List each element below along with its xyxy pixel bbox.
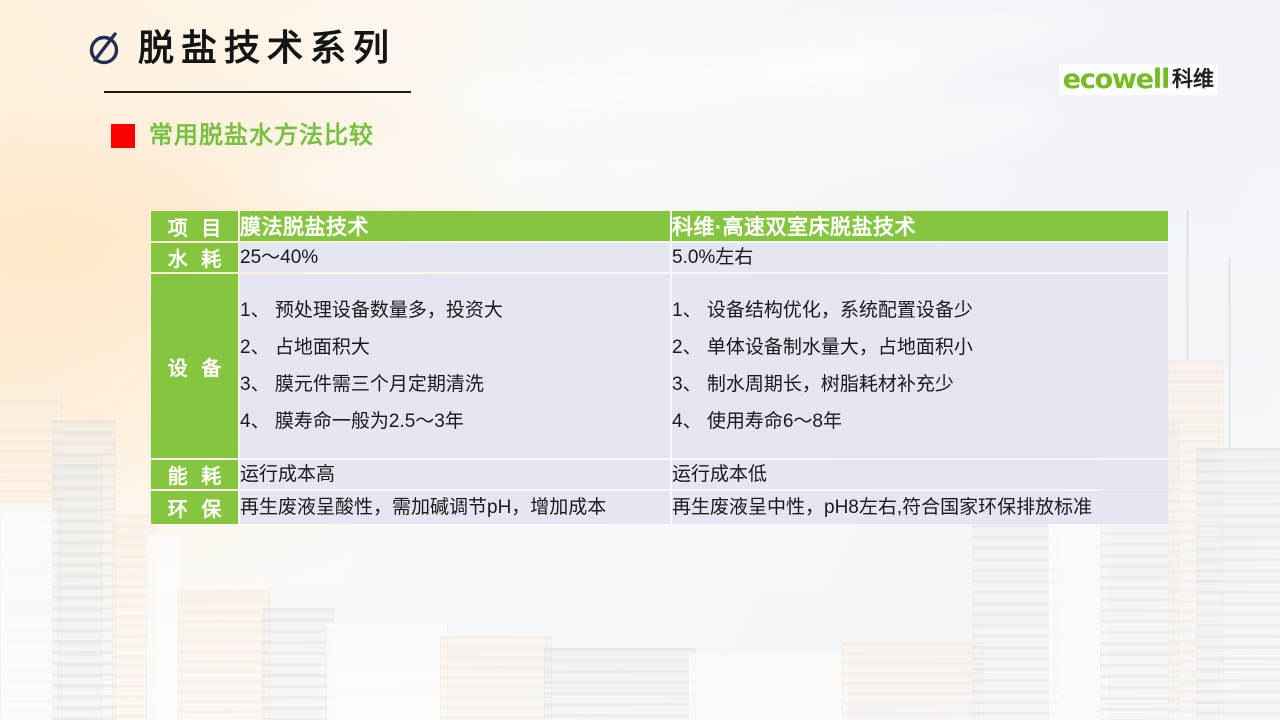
row-label-environment: 环 保: [151, 491, 238, 524]
header-cell-membrane: 膜法脱盐技术: [240, 211, 670, 241]
section-subtitle-row: 常用脱盐水方法比较: [111, 124, 374, 148]
comparison-table: 项 目 膜法脱盐技术 科维·高速双室床脱盐技术 水 耗 25～40% 5.0%左…: [149, 209, 1170, 526]
row-label-equipment: 设 备: [151, 274, 238, 458]
equipment-ecowell-list: 1、 设备结构优化，系统配置设备少 2、 单体设备制水量大，占地面积小 3、 制…: [672, 292, 1168, 440]
brand-logo: ecowell 科维: [1059, 64, 1218, 95]
table-row: 水 耗 25～40% 5.0%左右: [151, 243, 1168, 272]
row-equipment-membrane: 1、 预处理设备数量多，投资大 2、 占地面积大 3、 膜元件需三个月定期清洗 …: [240, 274, 670, 458]
row-energy-ecowell: 运行成本低: [672, 460, 1168, 489]
list-item: 1、 预处理设备数量多，投资大: [240, 292, 670, 329]
page-title: 脱盐技术系列: [138, 30, 396, 66]
header-cell-ecowell: 科维·高速双室床脱盐技术: [672, 211, 1168, 241]
row-energy-membrane: 运行成本高: [240, 460, 670, 489]
null-slashed-circle-icon: [88, 31, 122, 65]
row-label-water: 水 耗: [151, 243, 238, 272]
list-item: 3、 膜元件需三个月定期清洗: [240, 366, 670, 403]
table-row: 环 保 再生废液呈酸性，需加碱调节pH，增加成本 再生废液呈中性，pH8左右,符…: [151, 491, 1168, 524]
slide-root: 脱盐技术系列 ecowell 科维 常用脱盐水方法比较 项 目 膜法脱盐技术 科…: [0, 0, 1280, 720]
row-water-ecowell: 5.0%左右: [672, 243, 1168, 272]
row-water-membrane: 25～40%: [240, 243, 670, 272]
table-row: 能 耗 运行成本高 运行成本低: [151, 460, 1168, 489]
row-equipment-ecowell: 1、 设备结构优化，系统配置设备少 2、 单体设备制水量大，占地面积小 3、 制…: [672, 274, 1168, 458]
list-item: 1、 设备结构优化，系统配置设备少: [672, 292, 1168, 329]
list-item: 4、 膜寿命一般为2.5～3年: [240, 403, 670, 440]
row-environment-membrane: 再生废液呈酸性，需加碱调节pH，增加成本: [240, 491, 670, 524]
table-row: 设 备 1、 预处理设备数量多，投资大 2、 占地面积大 3、 膜元件需三个月定…: [151, 274, 1168, 458]
list-item: 2、 单体设备制水量大，占地面积小: [672, 329, 1168, 366]
red-square-bullet-icon: [111, 124, 135, 148]
list-item: 2、 占地面积大: [240, 329, 670, 366]
logo-wordmark: ecowell: [1063, 66, 1169, 93]
title-underline-rule: [104, 91, 411, 93]
list-item: 4、 使用寿命6～8年: [672, 403, 1168, 440]
header-cell-item: 项 目: [151, 211, 238, 241]
equipment-membrane-list: 1、 预处理设备数量多，投资大 2、 占地面积大 3、 膜元件需三个月定期清洗 …: [240, 292, 670, 440]
page-title-row: 脱盐技术系列: [88, 30, 396, 66]
logo-chinese-name: 科维: [1172, 69, 1214, 90]
section-subtitle: 常用脱盐水方法比较: [149, 124, 374, 148]
table-header-row: 项 目 膜法脱盐技术 科维·高速双室床脱盐技术: [151, 211, 1168, 241]
row-environment-ecowell: 再生废液呈中性，pH8左右,符合国家环保排放标准: [672, 491, 1168, 524]
row-label-energy: 能 耗: [151, 460, 238, 489]
list-item: 3、 制水周期长，树脂耗材补充少: [672, 366, 1168, 403]
